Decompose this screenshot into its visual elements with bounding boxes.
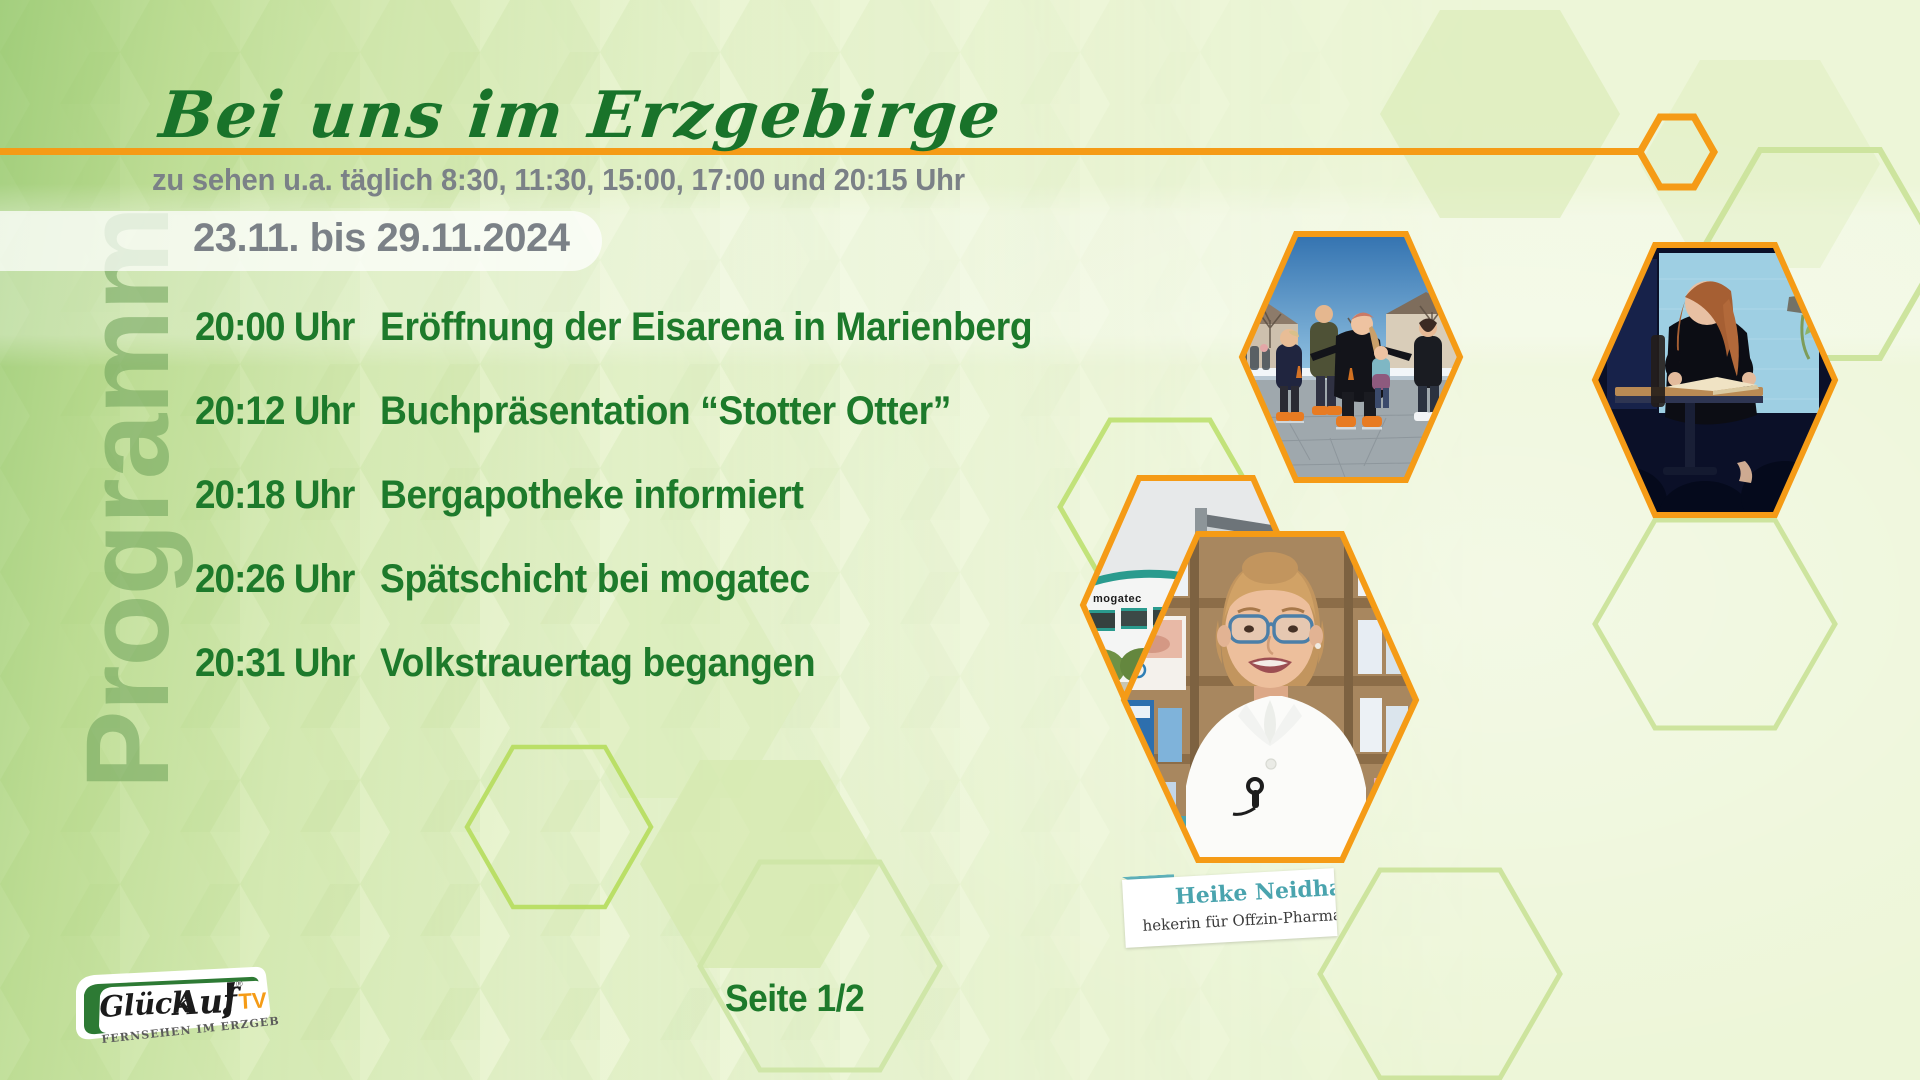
svg-text:TV: TV	[238, 987, 268, 1014]
program-row-title: Volkstrauertag begangen	[380, 641, 815, 686]
photo-hex-book-reading	[1589, 239, 1841, 521]
pharmacist-name-caption: Heike Neidhardt hekerin für Offzin-Pharm…	[1122, 868, 1337, 948]
program-row: 20:31 Uhr Volkstrauertag begangen	[195, 641, 1095, 725]
broadcast-times-subtitle: zu sehen u.a. täglich 8:30, 11:30, 15:00…	[152, 162, 965, 198]
date-range-text: 23.11. bis 29.11.2024	[193, 216, 570, 261]
photo-hex-pharmacist	[1118, 528, 1422, 866]
program-row-title: Bergapotheke informiert	[380, 473, 803, 518]
program-row-time: 20:12 Uhr	[195, 389, 365, 434]
pharmacist-name: Heike Neidhardt	[1174, 873, 1337, 910]
orange-hexagon-icon	[1636, 113, 1718, 191]
program-row: 20:00 Uhr Eröffnung der Eisarena in Mari…	[195, 305, 1095, 389]
photo-hex-ice-skating	[1236, 228, 1466, 486]
program-row-time: 20:18 Uhr	[195, 473, 365, 518]
program-row: 20:18 Uhr Bergapotheke informiert	[195, 473, 1095, 557]
program-row-time: 20:00 Uhr	[195, 305, 365, 350]
program-row-time: 20:31 Uhr	[195, 641, 365, 686]
page-indicator: Seite 1/2	[725, 978, 864, 1021]
program-row-time: 20:26 Uhr	[195, 557, 365, 602]
svg-text:®: ®	[236, 979, 243, 989]
program-row: 20:26 Uhr Spätschicht bei mogatec	[195, 557, 1095, 641]
page-title: Bei uns im Erzgebirge	[156, 78, 1006, 153]
slide-canvas: Programm Bei uns im Erzgebirge zu sehen …	[0, 0, 1920, 1080]
program-row-title: Spätschicht bei mogatec	[380, 557, 810, 602]
program-row-title: Eröffnung der Eisarena in Marienberg	[380, 305, 1032, 350]
program-schedule-list: 20:00 Uhr Eröffnung der Eisarena in Mari…	[195, 305, 1095, 725]
pharmacist-role: hekerin für Offzin-Pharmazie	[1142, 905, 1337, 935]
program-row: 20:12 Uhr Buchpräsentation “Stotter Otte…	[195, 389, 1095, 473]
program-row-title: Buchpräsentation “Stotter Otter”	[380, 389, 951, 434]
glueckauf-tv-logo[interactable]: Glück Auf ! ® TV FERNSEHEN IM ERZGEBIRGE	[70, 965, 280, 1057]
